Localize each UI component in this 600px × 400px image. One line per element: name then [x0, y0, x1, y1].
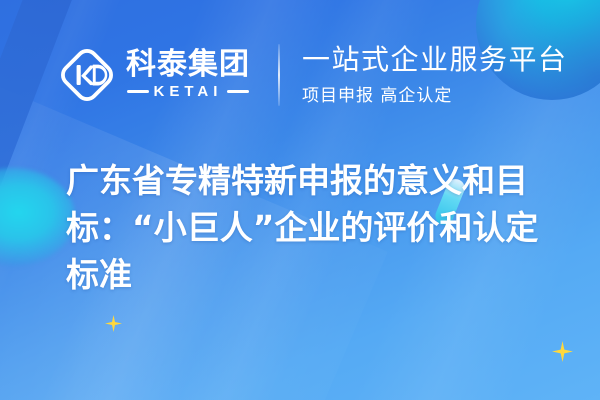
logo-name-en-row: KETAI: [126, 83, 250, 100]
logo-name-en: KETAI: [154, 83, 223, 100]
logo-name-cn: 科泰集团: [126, 50, 250, 81]
tagline-sub: 项目申报 高企认定: [302, 81, 568, 106]
sparkle-icon-left: [105, 315, 122, 332]
sparkle-icon-right: [552, 341, 573, 362]
logo-wordmark: 科泰集团 KETAI: [126, 50, 250, 100]
logo-dash-left: [127, 90, 149, 93]
company-logo[interactable]: 科泰集团 KETAI: [58, 46, 250, 104]
ketai-diamond-logo-icon: [58, 46, 116, 104]
logo-dash-right: [227, 90, 249, 93]
page-title: 广东省专精特新申报的意义和目标：“小巨人”企业的评价和认定标准: [66, 158, 566, 299]
banner-header: 科泰集团 KETAI 一站式企业服务平台 项目申报 高企认定: [58, 44, 568, 106]
banner: 科泰集团 KETAI 一站式企业服务平台 项目申报 高企认定 广东省专精特新申报…: [0, 0, 600, 400]
header-divider: [278, 44, 280, 106]
tagline-main: 一站式企业服务平台: [302, 44, 568, 75]
cyan-glow-blob: [0, 168, 75, 266]
tagline-block: 一站式企业服务平台 项目申报 高企认定: [302, 44, 568, 106]
